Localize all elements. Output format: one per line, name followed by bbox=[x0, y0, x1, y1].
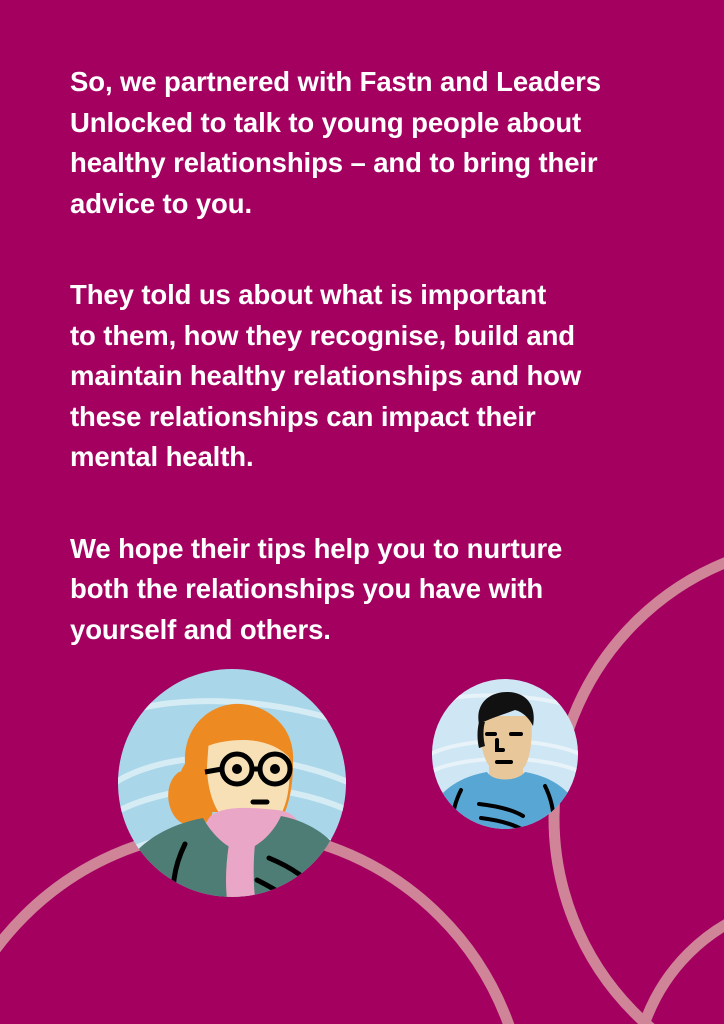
paragraph-3: We hope their tips help you to nurture b… bbox=[70, 529, 650, 651]
paragraph-2: They told us about what is important to … bbox=[70, 275, 650, 478]
avatar-left-eye-left bbox=[232, 764, 242, 774]
paragraph-1: So, we partnered with Fastn and Leaders … bbox=[70, 62, 650, 224]
avatar-young-person-glasses bbox=[117, 668, 347, 898]
avatar-left-eye-right bbox=[270, 764, 280, 774]
avatar-left-scarf-front bbox=[226, 844, 257, 898]
page-canvas: So, we partnered with Fastn and Leaders … bbox=[0, 0, 724, 1024]
avatar-young-person-blue-shirt bbox=[431, 678, 579, 830]
intro-copy: So, we partnered with Fastn and Leaders … bbox=[70, 62, 650, 650]
decor-circle-lower-right bbox=[634, 899, 724, 1024]
